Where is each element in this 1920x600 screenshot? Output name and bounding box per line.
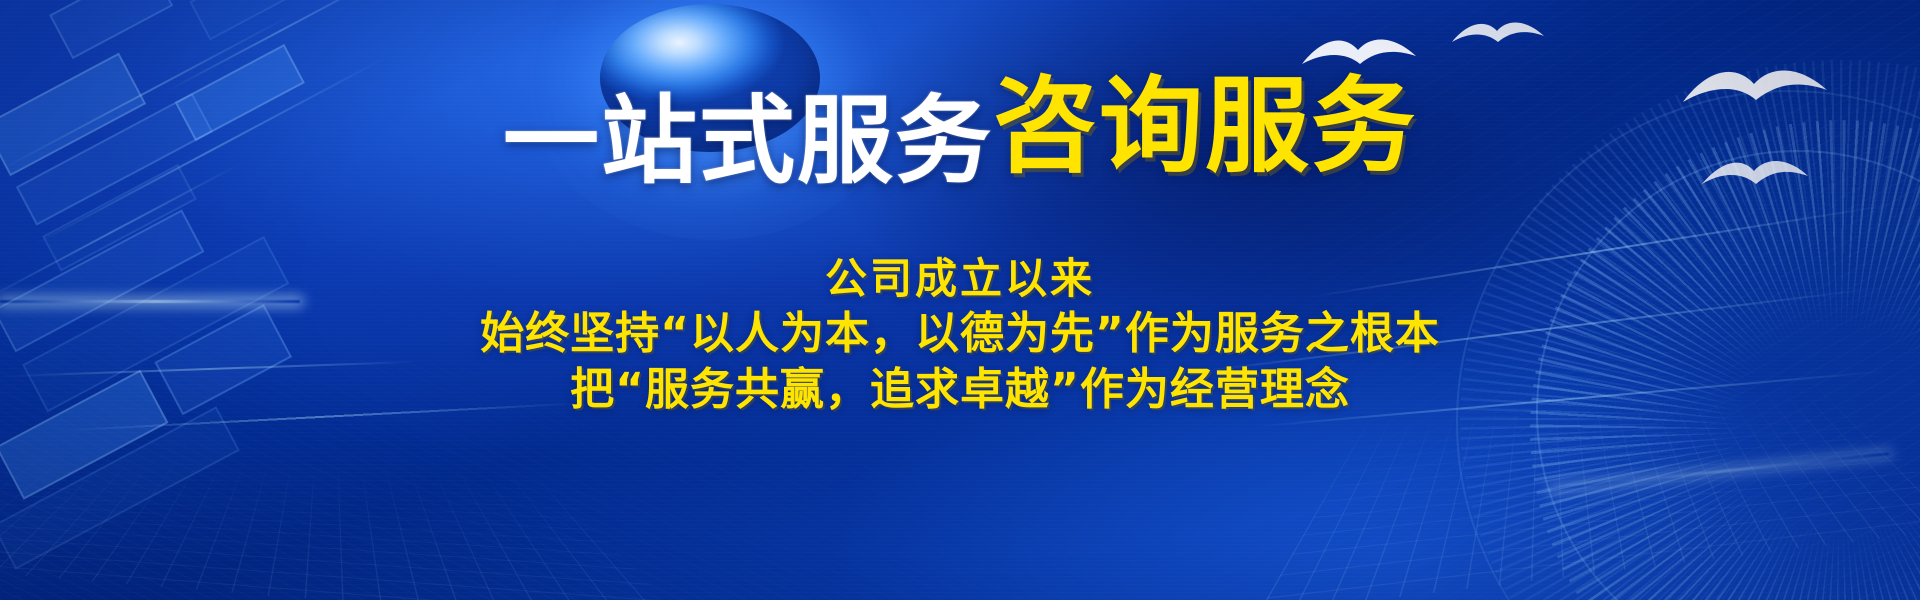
background-vignette	[0, 0, 1920, 600]
service-banner: 一站式服务咨询服务 公司成立以来 始终坚持“以人为本，以德为先”作为服务之根本 …	[0, 0, 1920, 600]
